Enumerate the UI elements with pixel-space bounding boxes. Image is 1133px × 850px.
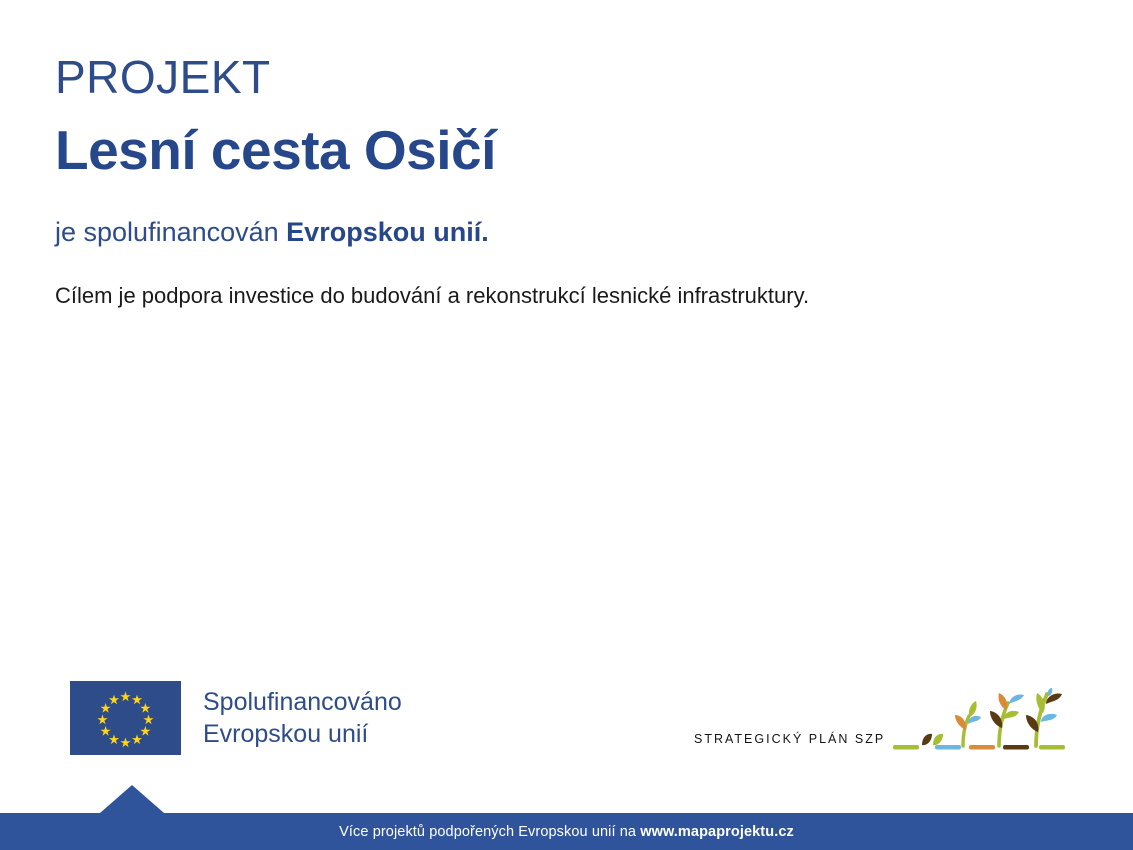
footer-text-prefix: Více projektů podpořených Evropskou unií… xyxy=(339,824,640,840)
szp-logo: STRATEGICKÝ PLÁN SZP xyxy=(694,688,1071,760)
footer-url[interactable]: www.mapaprojektu.cz xyxy=(640,824,794,840)
cofinance-emphasis: Evropskou unií. xyxy=(286,217,489,247)
eu-logo-line-2: Evropskou unií xyxy=(203,718,402,750)
szp-sprouts-icon xyxy=(891,688,1071,760)
footer-text: Více projektů podpořených Evropskou unií… xyxy=(339,824,794,840)
page-title: Lesní cesta Osičí xyxy=(55,120,1055,181)
eu-cofunding-logo: Spolufinancováno Evropskou unií xyxy=(70,681,402,755)
eu-flag-icon xyxy=(70,681,181,755)
eyebrow-label: PROJEKT xyxy=(55,52,1055,104)
goal-description: Cílem je podpora investice do budování a… xyxy=(55,282,1055,311)
slide-canvas: PROJEKT Lesní cesta Osičí je spolufinanc… xyxy=(0,0,1133,850)
eu-logo-line-1: Spolufinancováno xyxy=(203,688,402,716)
cofinance-prefix: je spolufinancován xyxy=(55,217,286,247)
footer-bar: Více projektů podpořených Evropskou unií… xyxy=(0,813,1133,850)
eu-logo-text: Spolufinancováno Evropskou unií xyxy=(203,686,402,750)
cofinance-line: je spolufinancován Evropskou unií. xyxy=(55,216,1055,248)
headline-block: PROJEKT Lesní cesta Osičí je spolufinanc… xyxy=(55,52,1055,311)
szp-logo-text: STRATEGICKÝ PLÁN SZP xyxy=(694,732,885,760)
triangle-up-icon xyxy=(100,785,164,813)
